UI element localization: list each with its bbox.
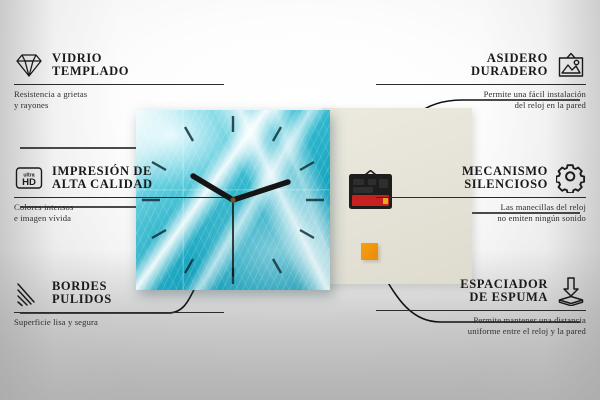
movement-detail-a	[353, 179, 364, 185]
ultra-hd-icon: ultra HD	[14, 163, 44, 193]
foam-spacer	[361, 243, 378, 260]
feature-desc-line1: Permite una fácil instalación	[376, 89, 586, 100]
polished-edges-icon	[14, 278, 44, 308]
feature-title-line2: DURADERO	[471, 65, 548, 79]
feature-title-line1: VIDRIO	[52, 52, 129, 66]
feature-underline	[376, 197, 586, 198]
feature-title-line2: DE ESPUMA	[460, 291, 548, 305]
feature-title-line2: TEMPLADO	[52, 65, 129, 79]
feature-mecanismo-silencioso: MECANISMO SILENCIOSO Las manecillas del …	[376, 163, 586, 223]
feature-bordes-pulidos: BORDES PULIDOS Superficie lisa y segura	[14, 278, 224, 328]
tick-2	[300, 162, 314, 170]
tick-1	[273, 127, 281, 141]
clock-minute-hand	[233, 182, 288, 200]
feature-desc-line1: Superficie lisa y segura	[14, 317, 224, 328]
feature-title-line1: ASIDERO	[471, 52, 548, 66]
infographic-canvas: VIDRIO TEMPLADO Resistencia a grietas y …	[0, 0, 600, 400]
feature-asidero-duradero: ASIDERO DURADERO Permite una fácil insta…	[376, 50, 586, 110]
tick-4	[300, 230, 314, 238]
clock-center-cap	[230, 197, 235, 202]
gear-icon	[556, 163, 586, 193]
feature-desc-line1: Permite mantener una distancia	[376, 315, 586, 326]
feature-impresion-alta-calidad: ultra HD IMPRESIÓN DE ALTA CALIDAD Color…	[14, 163, 224, 223]
feature-vidrio-templado: VIDRIO TEMPLADO Resistencia a grietas y …	[14, 50, 224, 110]
tick-11	[185, 127, 193, 141]
feature-title-line2: SILENCIOSO	[462, 178, 548, 192]
feature-desc-line1: Resistencia a grietas	[14, 89, 224, 100]
feature-title-line1: BORDES	[52, 280, 112, 294]
feature-title-line2: PULIDOS	[52, 293, 112, 307]
diamond-icon	[14, 50, 44, 80]
movement-detail-d	[353, 187, 373, 193]
tick-5	[273, 259, 281, 273]
feature-title-line1: ESPACIADOR	[460, 278, 548, 292]
feature-underline	[376, 84, 586, 85]
feature-desc-line1: Colores intensos	[14, 202, 224, 213]
feature-desc-line2: del reloj en la pared	[376, 100, 586, 111]
feature-underline	[14, 84, 224, 85]
feature-desc-line2: no emiten ningún sonido	[376, 213, 586, 224]
feature-title-line2: ALTA CALIDAD	[52, 178, 153, 192]
feature-underline	[14, 312, 224, 313]
feature-underline	[14, 197, 224, 198]
down-arrow-pad-icon	[556, 276, 586, 306]
feature-underline	[376, 310, 586, 311]
feature-desc-line2: e imagen vívida	[14, 213, 224, 224]
feature-espaciador-de-espuma: ESPACIADOR DE ESPUMA Permite mantener un…	[376, 276, 586, 336]
tick-8	[152, 230, 166, 238]
feature-desc-line1: Las manecillas del reloj	[376, 202, 586, 213]
feature-desc-line2: uniforme entre el reloj y la pared	[376, 326, 586, 337]
tick-7	[185, 259, 193, 273]
feature-title-line1: IMPRESIÓN DE	[52, 165, 153, 179]
feature-title-line1: MECANISMO	[462, 165, 548, 179]
movement-detail-b	[368, 179, 376, 185]
feature-desc-line2: y rayones	[14, 100, 224, 111]
framed-picture-hook-icon	[556, 50, 586, 80]
ultra-hd-icon-large-text: HD	[22, 177, 36, 188]
